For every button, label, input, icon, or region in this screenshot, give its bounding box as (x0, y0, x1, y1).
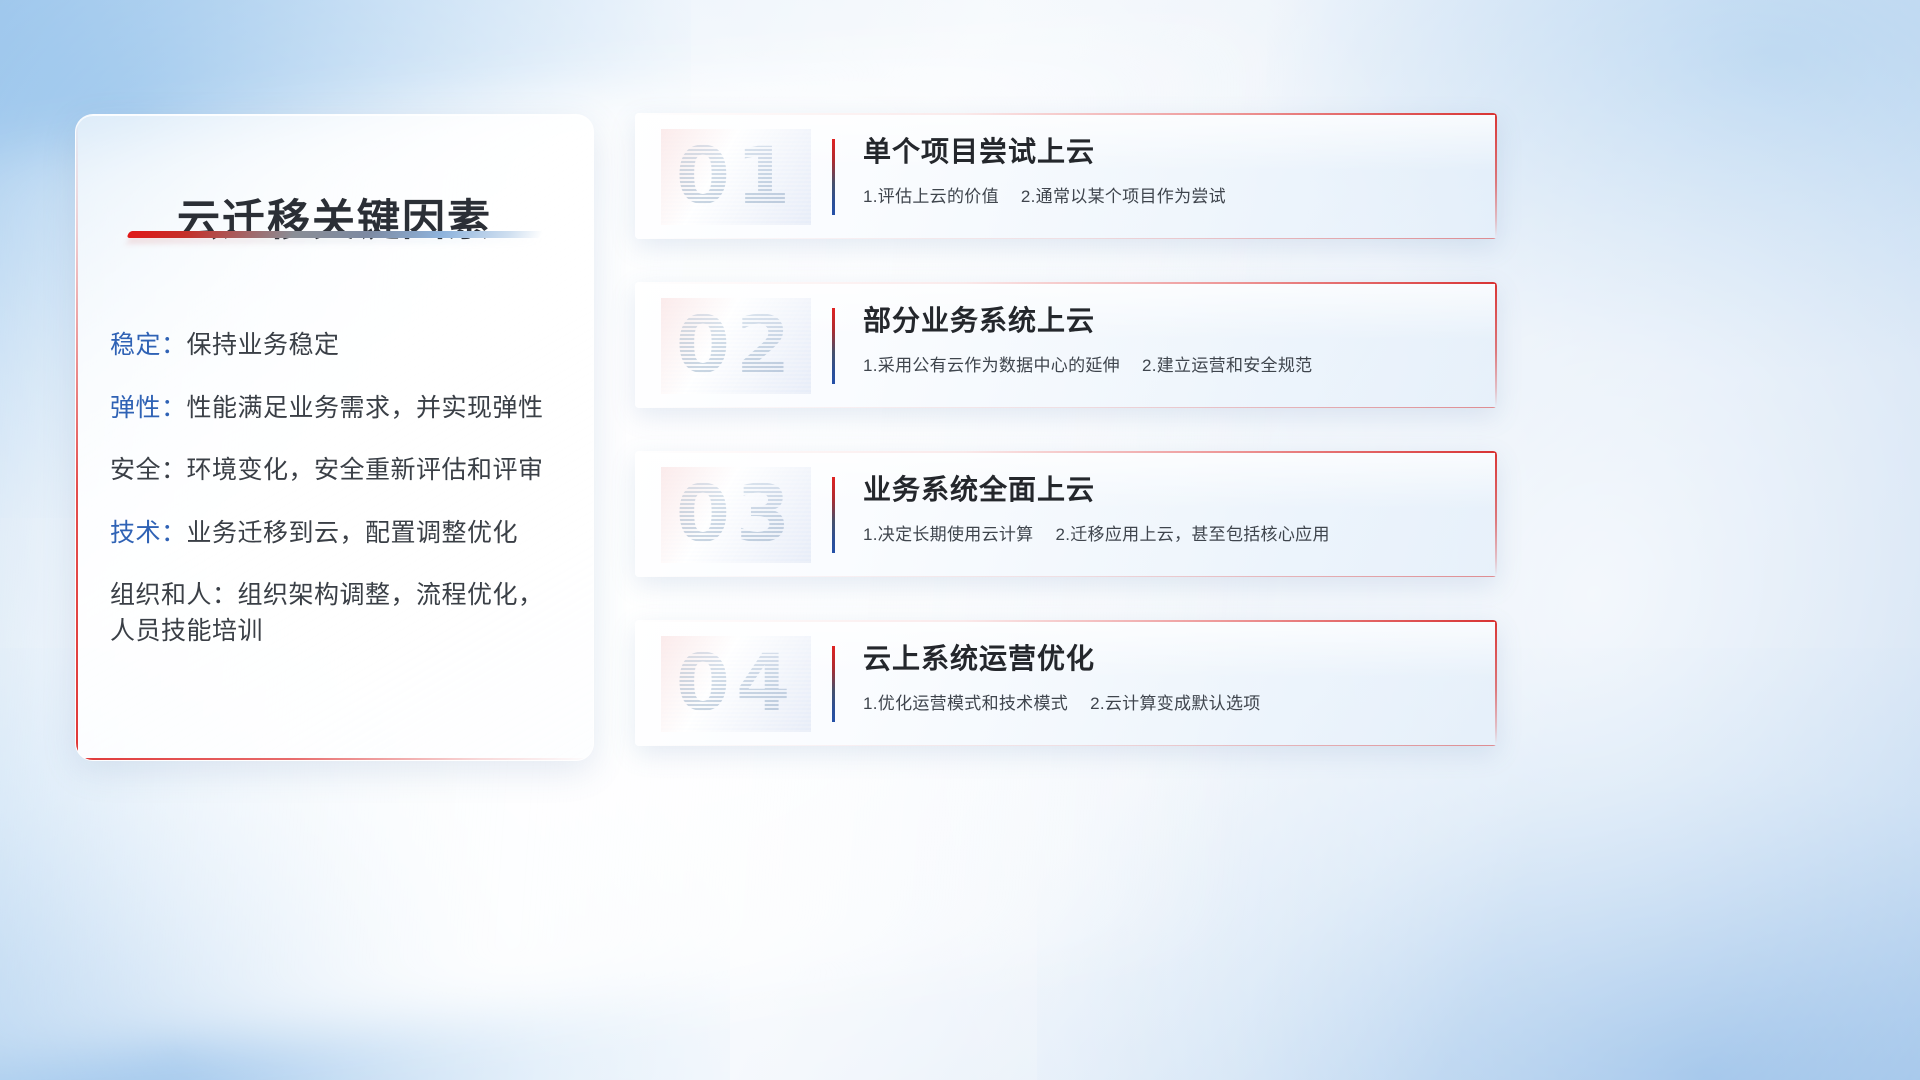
slide-stage: 云迁移关键因素 稳定：保持业务稳定 弹性：性能满足业务需求，并实现弹性 安全：环… (0, 0, 1920, 1080)
factor-value: 性能满足业务需求，并实现弹性 (187, 394, 544, 422)
card-point-2: 2.通常以某个项目作为尝试 (1021, 187, 1226, 206)
card-point-1: 1.采用公有云作为数据中心的延伸 (863, 356, 1120, 375)
card-title: 云上系统运营优化 (863, 642, 1467, 676)
card-top-accent-line (635, 113, 1497, 115)
card-point-2: 2.迁移应用上云，甚至包括核心应用 (1055, 525, 1329, 544)
factor-value: 业务迁移到云，配置调整优化 (187, 519, 519, 547)
card-subtitle: 1.优化运营模式和技术模式2.云计算变成默认选项 (863, 693, 1467, 715)
card-body: 业务系统全面上云 1.决定长期使用云计算2.迁移应用上云，甚至包括核心应用 (863, 473, 1467, 563)
stage-number-watermark: 02 (661, 298, 811, 394)
stage-number-tint-overlay (661, 467, 811, 563)
card-point-2: 2.建立运营和安全规范 (1142, 356, 1312, 375)
stage-number-watermark: 03 (661, 467, 811, 563)
card-divider-bar (832, 646, 835, 722)
card-title: 单个项目尝试上云 (863, 135, 1467, 169)
stage-number-stripe-overlay (661, 467, 811, 563)
factor-value: 保持业务稳定 (187, 331, 340, 359)
factor-label: 技术： (110, 519, 187, 547)
factor-label: 安全： (110, 456, 187, 484)
stage-number-watermark: 01 (661, 129, 811, 225)
factor-row: 技术：业务迁移到云，配置调整优化 (110, 516, 569, 552)
card-right-accent-line (1495, 282, 1497, 408)
factor-row: 稳定：保持业务稳定 (110, 328, 569, 364)
card-title: 部分业务系统上云 (863, 304, 1467, 338)
card-point-1: 1.评估上云的价值 (863, 187, 999, 206)
title-underline-shadow (127, 238, 543, 243)
card-point-1: 1.优化运营模式和技术模式 (863, 694, 1068, 713)
title-underline-gradient (126, 231, 543, 238)
factor-row: 组织和人：组织架构调整，流程优化，人员技能培训 (110, 578, 569, 649)
card-right-accent-line (1495, 113, 1497, 239)
card-right-accent-line (1495, 451, 1497, 577)
stage-number-text: 04 (676, 639, 797, 729)
card-bottom-accent-line (635, 745, 1497, 746)
stage-card[interactable]: 01 单个项目尝试上云 1.评估上云的价值2.通常以某个项目作为尝试 (635, 113, 1497, 239)
stage-number-tint-overlay (661, 636, 811, 732)
card-title: 业务系统全面上云 (863, 473, 1467, 507)
card-bottom-accent-line (635, 576, 1497, 577)
stage-number-stripe-overlay (661, 129, 811, 225)
factor-label: 组织和人： (110, 581, 238, 609)
factor-row: 安全：环境变化，安全重新评估和评审 (110, 453, 569, 489)
stage-card[interactable]: 03 业务系统全面上云 1.决定长期使用云计算2.迁移应用上云，甚至包括核心应用 (635, 451, 1497, 577)
stage-number-tint-overlay (661, 298, 811, 394)
card-top-accent-line (635, 451, 1497, 453)
factor-list: 稳定：保持业务稳定 弹性：性能满足业务需求，并实现弹性 安全：环境变化，安全重新… (110, 303, 569, 676)
stage-number-watermark: 04 (661, 636, 811, 732)
card-point-2: 2.云计算变成默认选项 (1090, 694, 1260, 713)
card-divider-bar (832, 308, 835, 384)
card-subtitle: 1.评估上云的价值2.通常以某个项目作为尝试 (863, 186, 1467, 208)
stage-number-tint-overlay (661, 129, 811, 225)
stage-number-text: 01 (676, 132, 797, 222)
card-divider-bar (832, 139, 835, 215)
card-subtitle: 1.决定长期使用云计算2.迁移应用上云，甚至包括核心应用 (863, 524, 1467, 546)
key-factors-panel: 云迁移关键因素 稳定：保持业务稳定 弹性：性能满足业务需求，并实现弹性 安全：环… (75, 114, 594, 761)
card-top-accent-line (635, 282, 1497, 284)
stage-card[interactable]: 04 云上系统运营优化 1.优化运营模式和技术模式2.云计算变成默认选项 (635, 620, 1497, 746)
stage-number-text: 03 (676, 470, 797, 560)
stage-number-stripe-overlay (661, 636, 811, 732)
migration-stage-cards: 01 单个项目尝试上云 1.评估上云的价值2.通常以某个项目作为尝试 02 部分… (635, 113, 1497, 789)
card-point-1: 1.决定长期使用云计算 (863, 525, 1033, 544)
card-body: 云上系统运营优化 1.优化运营模式和技术模式2.云计算变成默认选项 (863, 642, 1467, 732)
card-divider-bar (832, 477, 835, 553)
card-right-accent-line (1495, 620, 1497, 746)
factor-label: 弹性： (110, 394, 187, 422)
factor-label: 稳定： (110, 331, 187, 359)
card-body: 单个项目尝试上云 1.评估上云的价值2.通常以某个项目作为尝试 (863, 135, 1467, 225)
card-body: 部分业务系统上云 1.采用公有云作为数据中心的延伸2.建立运营和安全规范 (863, 304, 1467, 394)
factor-row: 弹性：性能满足业务需求，并实现弹性 (110, 391, 569, 427)
factor-value: 环境变化，安全重新评估和评审 (187, 456, 544, 484)
stage-card[interactable]: 02 部分业务系统上云 1.采用公有云作为数据中心的延伸2.建立运营和安全规范 (635, 282, 1497, 408)
stage-number-stripe-overlay (661, 298, 811, 394)
card-top-accent-line (635, 620, 1497, 622)
card-subtitle: 1.采用公有云作为数据中心的延伸2.建立运营和安全规范 (863, 355, 1467, 377)
stage-number-text: 02 (676, 301, 797, 391)
card-bottom-accent-line (635, 238, 1497, 239)
card-bottom-accent-line (635, 407, 1497, 408)
